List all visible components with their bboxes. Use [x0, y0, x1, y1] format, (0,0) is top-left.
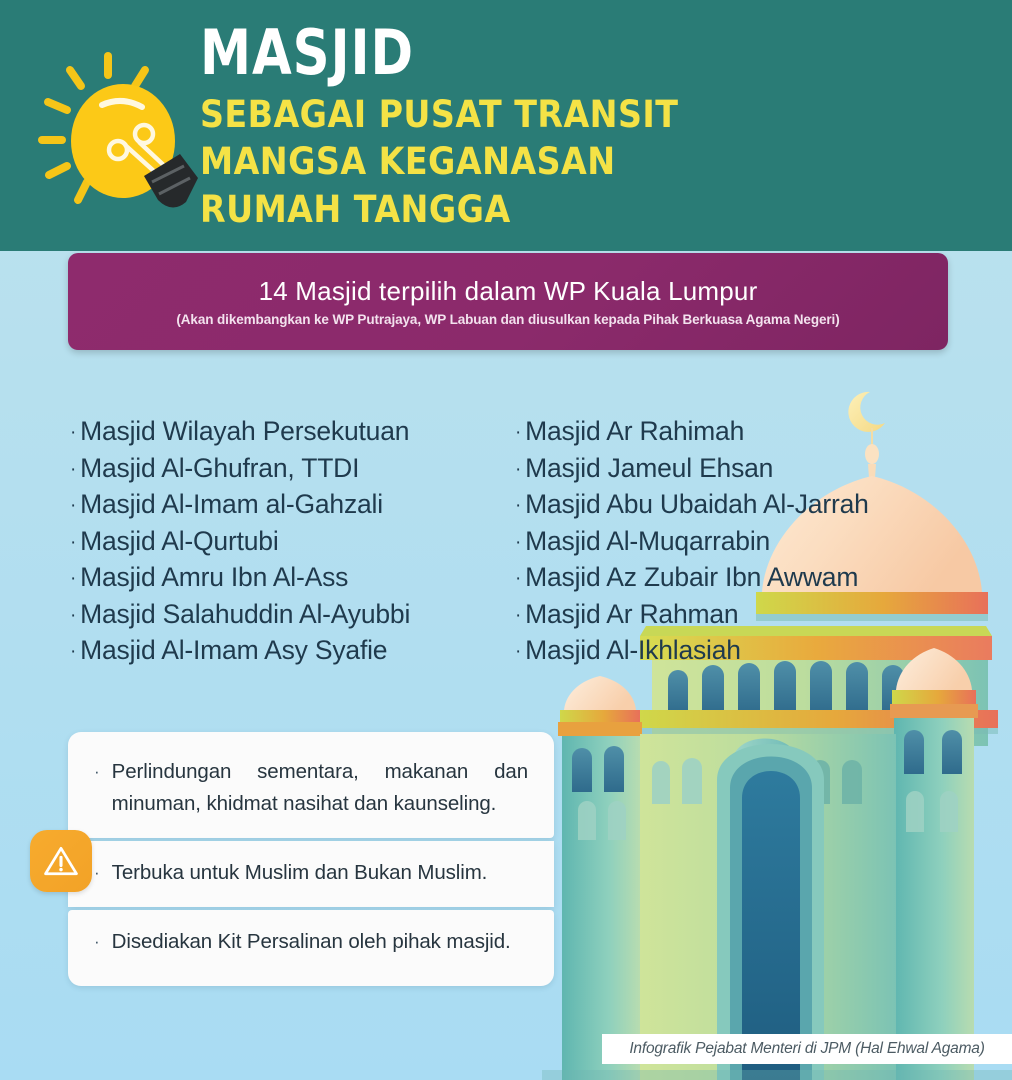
list-item-label: Masjid Salahuddin Al-Ayubbi [80, 599, 410, 629]
list-item: ·Masjid Ar Rahman [515, 597, 960, 634]
subtitle-line-3: RUMAH TANGGA [200, 186, 678, 233]
bullet-icon: · [515, 422, 521, 443]
list-item: ·Masjid Ar Rahimah [515, 414, 960, 451]
warning-triangle-icon [30, 830, 92, 892]
list-item-label: Masjid Amru Ibn Al-Ass [80, 562, 348, 592]
list-item: ·Masjid Al-Imam Asy Syafie [70, 633, 515, 670]
bullet-icon: · [515, 459, 521, 480]
selected-mosques-banner: 14 Masjid terpilih dalam WP Kuala Lumpur… [68, 253, 948, 350]
bullet-icon: · [70, 422, 76, 443]
list-item-label: Masjid Abu Ubaidah Al-Jarrah [525, 489, 869, 519]
bullet-icon: · [70, 459, 76, 480]
list-item: ·Masjid Al-Qurtubi [70, 524, 515, 561]
list-item-label: Masjid Al-Imam al-Gahzali [80, 489, 383, 519]
mosque-list-right-column: ·Masjid Ar Rahimah ·Masjid Jameul Ehsan … [515, 414, 960, 670]
bullet-icon: · [70, 568, 76, 589]
footer-credit-text: Infografik Pejabat Menteri di JPM (Hal E… [629, 1040, 984, 1058]
info-card-text: Terbuka untuk Muslim dan Bukan Muslim. [112, 857, 488, 889]
bullet-icon: · [70, 532, 76, 553]
list-item-label: Masjid Al-Muqarrabin [525, 526, 770, 556]
header-banner: MASJID SEBAGAI PUSAT TRANSIT MANGSA KEGA… [0, 0, 1012, 251]
list-item: ·Masjid Al-Ikhlasiah [515, 633, 960, 670]
list-item: ·Masjid Az Zubair Ibn Awwam [515, 560, 960, 597]
list-item-label: Masjid Al-Qurtubi [80, 526, 278, 556]
list-item: ·Masjid Wilayah Persekutuan [70, 414, 515, 451]
list-item-label: Masjid Ar Rahman [525, 599, 738, 629]
info-card: · Terbuka untuk Muslim dan Bukan Muslim. [68, 841, 554, 907]
list-item-label: Masjid Al-Ikhlasiah [525, 635, 741, 665]
info-card: · Perlindungan sementara, makanan dan mi… [68, 732, 554, 838]
page-subtitle: SEBAGAI PUSAT TRANSIT MANGSA KEGANASAN R… [200, 91, 678, 233]
list-item-label: Masjid Az Zubair Ibn Awwam [525, 562, 858, 592]
list-item: ·Masjid Salahuddin Al-Ayubbi [70, 597, 515, 634]
subtitle-line-1: SEBAGAI PUSAT TRANSIT [200, 91, 678, 138]
infographic-page: MASJID SEBAGAI PUSAT TRANSIT MANGSA KEGA… [0, 0, 1012, 1080]
info-card-text: Perlindungan sementara, makanan dan minu… [112, 756, 528, 820]
bullet-icon: · [515, 532, 521, 553]
list-item: ·Masjid Al-Ghufran, TTDI [70, 451, 515, 488]
info-cards: · Perlindungan sementara, makanan dan mi… [68, 732, 554, 986]
bullet-icon: · [515, 641, 521, 662]
info-card: · Disediakan Kit Persalinan oleh pihak m… [68, 910, 554, 986]
header-text-block: MASJID SEBAGAI PUSAT TRANSIT MANGSA KEGA… [200, 20, 732, 233]
bullet-icon: · [515, 605, 521, 626]
page-title: MASJID [200, 20, 689, 87]
mosque-list-left-column: ·Masjid Wilayah Persekutuan ·Masjid Al-G… [70, 414, 515, 670]
bullet-icon: · [94, 857, 100, 889]
banner-note: (Akan dikembangkan ke WP Putrajaya, WP L… [176, 312, 839, 327]
subtitle-line-2: MANGSA KEGANASAN [200, 138, 678, 185]
mosque-list: ·Masjid Wilayah Persekutuan ·Masjid Al-G… [70, 414, 960, 670]
bullet-icon: · [94, 756, 100, 788]
list-item-label: Masjid Jameul Ehsan [525, 453, 773, 483]
bullet-icon: · [94, 926, 100, 958]
bullet-icon: · [70, 605, 76, 626]
banner-title: 14 Masjid terpilih dalam WP Kuala Lumpur [259, 276, 758, 307]
bullet-icon: · [515, 568, 521, 589]
bullet-icon: · [70, 641, 76, 662]
list-item-label: Masjid Al-Imam Asy Syafie [80, 635, 387, 665]
lightbulb-icon [26, 42, 208, 217]
footer-credit-bar: Infografik Pejabat Menteri di JPM (Hal E… [602, 1034, 1012, 1064]
list-item: ·Masjid Al-Muqarrabin [515, 524, 960, 561]
list-item: ·Masjid Abu Ubaidah Al-Jarrah [515, 487, 960, 524]
list-item: ·Masjid Al-Imam al-Gahzali [70, 487, 515, 524]
list-item-label: Masjid Wilayah Persekutuan [80, 416, 409, 446]
info-card-text: Disediakan Kit Persalinan oleh pihak mas… [112, 926, 511, 958]
list-item: ·Masjid Amru Ibn Al-Ass [70, 560, 515, 597]
list-item: ·Masjid Jameul Ehsan [515, 451, 960, 488]
bullet-icon: · [515, 495, 521, 516]
list-item-label: Masjid Al-Ghufran, TTDI [80, 453, 359, 483]
bullet-icon: · [70, 495, 76, 516]
list-item-label: Masjid Ar Rahimah [525, 416, 744, 446]
